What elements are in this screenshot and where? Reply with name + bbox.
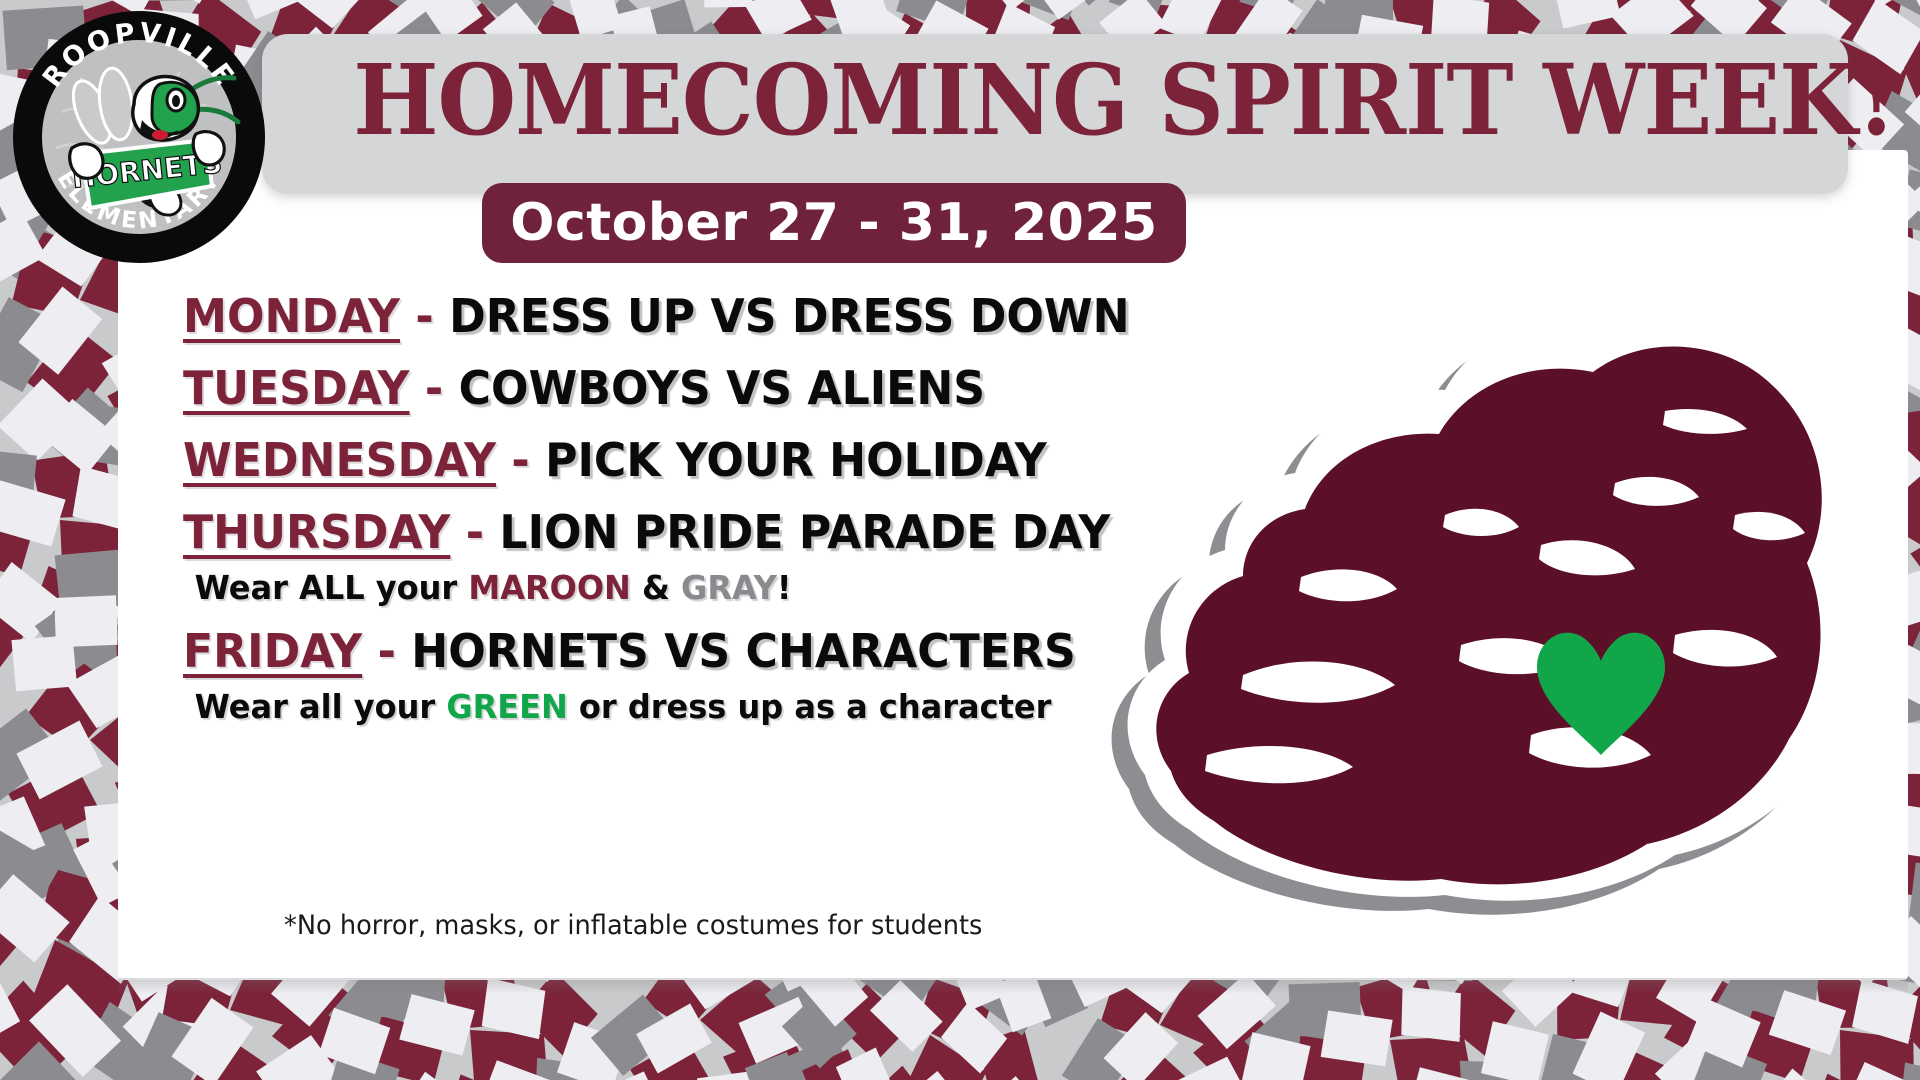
schedule-row-friday: FRIDAY - HORNETS VS CHARACTERS: [183, 628, 1143, 674]
day-dash-monday: -: [415, 289, 433, 343]
day-dash-tuesday: -: [425, 361, 443, 415]
school-logo: ROOPVILLE ELEMENTARY: [10, 8, 268, 266]
day-note-friday: Wear all your GREEN or dress up as a cha…: [183, 690, 1153, 723]
schedule-row-wednesday: WEDNESDAY - PICK YOUR HOLIDAY: [183, 437, 1143, 483]
schedule-row-monday: MONDAY - DRESS UP VS DRESS DOWN: [183, 293, 1143, 339]
day-theme-thursday: LION PRIDE PARADE DAY: [499, 505, 1110, 559]
date-badge: October 27 - 31, 2025: [482, 183, 1186, 263]
day-dash-friday: -: [378, 624, 396, 678]
note-part-green: GREEN: [446, 687, 567, 726]
schedule-list: MONDAY - DRESS UP VS DRESS DOWN TUESDAY …: [183, 293, 1183, 747]
day-note-thursday: Wear ALL your MAROON & GRAY!: [183, 571, 1153, 604]
day-label-monday: MONDAY: [183, 289, 400, 343]
schedule-row-thursday: THURSDAY - LION PRIDE PARADE DAY: [183, 509, 1143, 555]
day-dash-wednesday: -: [511, 433, 529, 487]
day-theme-monday: DRESS UP VS DRESS DOWN: [449, 289, 1129, 343]
schedule-row-tuesday: TUESDAY - COWBOYS VS ALIENS: [183, 365, 1143, 411]
page-title: HOMECOMING SPIRIT WEEK!: [353, 52, 1767, 149]
day-label-friday: FRIDAY: [183, 624, 362, 678]
day-label-tuesday: TUESDAY: [183, 361, 410, 415]
day-theme-friday: HORNETS VS CHARACTERS: [411, 624, 1076, 678]
spirit-week-poster: HOMECOMING SPIRIT WEEK! October 27 - 31,…: [0, 0, 1920, 1080]
day-theme-tuesday: COWBOYS VS ALIENS: [459, 361, 985, 415]
note-part-maroon: MAROON: [468, 568, 630, 607]
note-part-text: Wear ALL your: [195, 568, 469, 607]
note-part-text: Wear all your: [195, 687, 447, 726]
note-part-gray: GRAY: [681, 568, 777, 607]
day-theme-wednesday: PICK YOUR HOLIDAY: [545, 433, 1047, 487]
day-label-wednesday: WEDNESDAY: [183, 433, 496, 487]
date-range-text: October 27 - 31, 2025: [510, 193, 1157, 253]
footnote-text: *No horror, masks, or inflatable costume…: [284, 910, 982, 941]
note-part-bang: !: [777, 568, 792, 607]
note-part-tail: or dress up as a character: [568, 687, 1052, 726]
day-dash-thursday: -: [466, 505, 484, 559]
note-part-amp: &: [631, 568, 681, 607]
day-label-thursday: THURSDAY: [183, 505, 450, 559]
